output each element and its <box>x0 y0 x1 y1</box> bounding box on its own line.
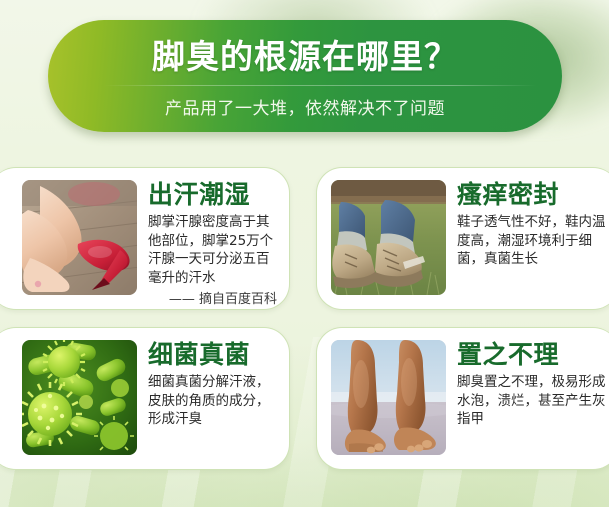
feet-red-heel-image <box>22 180 137 295</box>
card-title: 细菌真菌 <box>148 340 281 370</box>
microbes-microscope-image <box>22 340 137 455</box>
banner-divider <box>104 85 536 86</box>
card-title: 出汗潮湿 <box>148 180 281 210</box>
page-subtitle: 产品用了一大堆，依然解决不了问题 <box>48 96 562 122</box>
page-title: 脚臭的根源在哪里？ <box>48 35 562 79</box>
card-row-1: 出汗潮湿 脚掌汗腺密度高于其他部位，脚掌25万个汗腺一天可分泌五百毫升的汗水 —… <box>0 167 609 327</box>
card-title: 瘙痒密封 <box>457 180 609 210</box>
card-ignore-it[interactable]: 置之不理 脚臭置之不理，极易形成水泡，溃烂，甚至产生灰指甲 <box>316 327 609 470</box>
card-description: 鞋子透气性不好，鞋内温度高，潮湿环境利于细菌，真菌生长 <box>457 213 609 269</box>
card-title: 置之不理 <box>457 340 609 370</box>
card-sweat-damp[interactable]: 出汗潮湿 脚掌汗腺密度高于其他部位，脚掌25万个汗腺一天可分泌五百毫升的汗水 —… <box>0 167 290 310</box>
bare-feet-beach-image <box>331 340 446 455</box>
cause-card-grid: 出汗潮湿 脚掌汗腺密度高于其他部位，脚掌25万个汗腺一天可分泌五百毫升的汗水 —… <box>0 167 609 487</box>
card-itch-sealed[interactable]: 瘙痒密封 鞋子透气性不好，鞋内温度高，潮湿环境利于细菌，真菌生长 <box>316 167 609 310</box>
card-description: 脚掌汗腺密度高于其他部位，脚掌25万个汗腺一天可分泌五百毫升的汗水 <box>148 213 281 287</box>
card-description: 脚臭置之不理，极易形成水泡，溃烂，甚至产生灰指甲 <box>457 373 609 429</box>
card-source-attribution: —— 摘自百度百科 <box>148 291 281 309</box>
card-bacteria-fungus[interactable]: 细菌真菌 细菌真菌分解汗液，皮肤的角质的成分，形成汗臭 <box>0 327 290 470</box>
card-description: 细菌真菌分解汗液，皮肤的角质的成分，形成汗臭 <box>148 373 281 429</box>
card-row-2: 细菌真菌 细菌真菌分解汗液，皮肤的角质的成分，形成汗臭 <box>0 327 609 487</box>
work-boots-grass-image <box>331 180 446 295</box>
header-banner: 脚臭的根源在哪里？ 产品用了一大堆，依然解决不了问题 <box>48 20 562 132</box>
